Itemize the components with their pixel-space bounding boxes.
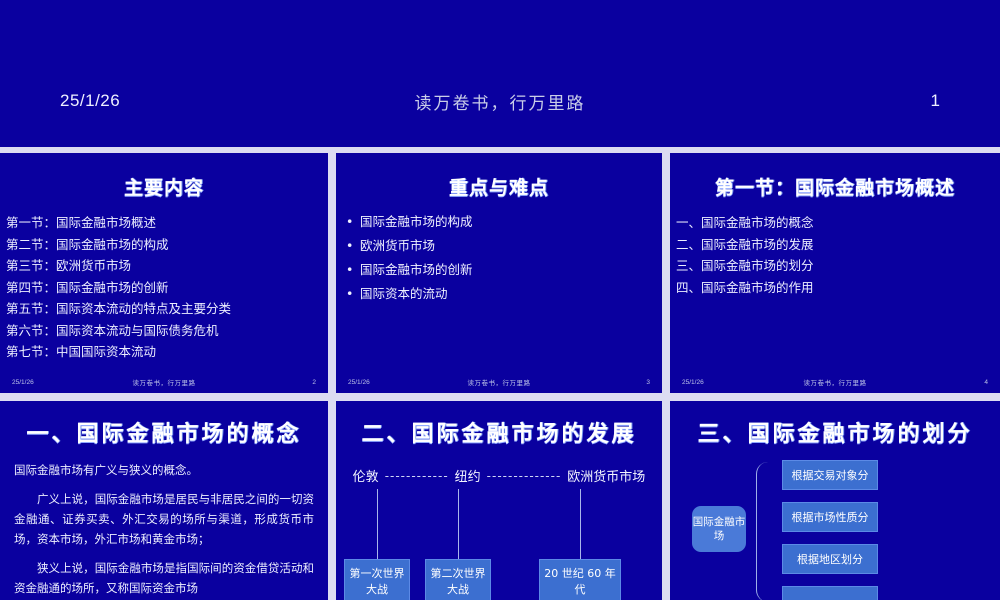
slide-footer: 25/1/26 读万卷书，行万里路 4 [670, 376, 1000, 388]
timeline-dash: -------------- [487, 469, 562, 483]
slide-content-list: 第一节：国际金融市场概述 第二节：国际金融市场的构成 第三节：欧洲货币市场 第四… [0, 212, 328, 363]
tree-brace-connector [756, 462, 770, 600]
slide-cell-3[interactable]: 重点与难点 •国际金融市场的构成 •欧洲货币市场 •国际金融市场的创新 •国际资… [332, 153, 666, 397]
slide-cell-2[interactable]: 主要内容 第一节：国际金融市场概述 第二节：国际金融市场的构成 第三节：欧洲货币… [0, 153, 332, 397]
slide-content-bullets: •国际金融市场的构成 •欧洲货币市场 •国际金融市场的创新 •国际资本的流动 [336, 210, 662, 306]
bullet-label: 国际金融市场的创新 [360, 262, 473, 277]
slide-thumbnail-3[interactable]: 重点与难点 •国际金融市场的构成 •欧洲货币市场 •国际金融市场的创新 •国际资… [336, 153, 662, 393]
timeline-connector [377, 489, 378, 561]
list-item: 第四节：国际金融市场的创新 [6, 277, 314, 299]
slide-content-list: 一、国际金融市场的概念 二、国际金融市场的发展 三、国际金融市场的划分 四、国际… [670, 212, 1000, 298]
tree-category-item: 根据地区划分 [782, 544, 878, 574]
banner-page-number: 1 [931, 91, 940, 111]
timeline-box: 第一次世界大战 [344, 559, 410, 600]
paragraph: 国际金融市场有广义与狭义的概念。 [14, 460, 314, 480]
tree-category-item: 根据交易对象分 [782, 460, 878, 490]
bullet-item: •国际资本的流动 [346, 282, 648, 306]
footer-date: 25/1/26 [12, 379, 34, 386]
bullet-label: 国际资本的流动 [360, 286, 448, 301]
top-banner: 25/1/26 读万卷书，行万里路 1 [0, 0, 1000, 147]
timeline-box: 第二次世界大战 [425, 559, 491, 600]
paragraph: 广义上说，国际金融市场是居民与非居民之间的一切资金融通、证券买卖、外汇交易的场所… [14, 489, 314, 549]
timeline-stage: 第一次世界大战 第二次世界大战 20 世纪 60 年代 [336, 489, 662, 600]
slide-footer: 25/1/26 读万卷书，行万里路 3 [336, 376, 662, 388]
list-item: 第六节：国际资本流动与国际债务危机 [6, 320, 314, 342]
timeline-box: 20 世纪 60 年代 [539, 559, 621, 600]
banner-center-text: 读万卷书，行万里路 [0, 89, 1000, 114]
footer-center-text: 读万卷书，行万里路 [0, 377, 328, 387]
timeline-node-label: 伦敦 [353, 466, 379, 485]
bullet-dot-icon: • [346, 282, 360, 306]
slide-thumbnail-7[interactable]: 三、国际金融市场的划分 国际金融市场 根据交易对象分 根据市场性质分 根据地区划… [670, 401, 1000, 600]
tree-category-item [782, 586, 878, 600]
slide-thumbnail-4[interactable]: 第一节：国际金融市场概述 一、国际金融市场的概念 二、国际金融市场的发展 三、国… [670, 153, 1000, 393]
footer-page-number: 4 [984, 379, 988, 386]
slide-cell-7[interactable]: 三、国际金融市场的划分 国际金融市场 根据交易对象分 根据市场性质分 根据地区划… [666, 397, 1000, 600]
list-item: 三、国际金融市场的划分 [676, 255, 986, 277]
list-item: 第五节：国际资本流动的特点及主要分类 [6, 298, 314, 320]
footer-center-text: 读万卷书，行万里路 [670, 377, 1000, 387]
slide-thumbnail-5[interactable]: 一、国际金融市场的概念 国际金融市场有广义与狭义的概念。 广义上说，国际金融市场… [0, 401, 328, 600]
bullet-dot-icon: • [346, 210, 360, 234]
slide-title: 一、国际金融市场的概念 [0, 416, 328, 448]
paragraph: 狭义上说，国际金融市场是指国际间的资金借贷活动和资金融通的场所，又称国际资金市场 [14, 558, 314, 598]
list-item: 二、国际金融市场的发展 [676, 234, 986, 256]
tree-root-node: 国际金融市场 [692, 506, 746, 552]
slide-thumbnail-2[interactable]: 主要内容 第一节：国际金融市场概述 第二节：国际金融市场的构成 第三节：欧洲货币… [0, 153, 328, 393]
slide-cell-5[interactable]: 一、国际金融市场的概念 国际金融市场有广义与狭义的概念。 广义上说，国际金融市场… [0, 397, 332, 600]
banner-row: 25/1/26 读万卷书，行万里路 1 [0, 84, 1000, 118]
tree-category-item: 根据市场性质分 [782, 502, 878, 532]
list-item: 第一节：国际金融市场概述 [6, 212, 314, 234]
timeline-node-label: 欧洲货币市场 [567, 466, 645, 485]
list-item: 第七节：中国国际资本流动 [6, 341, 314, 363]
bullet-dot-icon: • [346, 234, 360, 258]
footer-date: 25/1/26 [348, 379, 370, 386]
list-item: 第三节：欧洲货币市场 [6, 255, 314, 277]
classification-tree: 国际金融市场 根据交易对象分 根据市场性质分 根据地区划分 [670, 454, 1000, 600]
footer-center-text: 读万卷书，行万里路 [336, 377, 662, 387]
bullet-item: •欧洲货币市场 [346, 234, 648, 258]
bullet-item: •国际金融市场的构成 [346, 210, 648, 234]
slide-cell-6[interactable]: 二、国际金融市场的发展 伦敦 ------------ 纽约 ---------… [332, 397, 666, 600]
footer-date: 25/1/26 [682, 379, 704, 386]
bullet-item: •国际金融市场的创新 [346, 258, 648, 282]
slide-title: 第一节：国际金融市场概述 [670, 173, 1000, 200]
slide-footer: 25/1/26 读万卷书，行万里路 2 [0, 376, 328, 388]
slide-title: 主要内容 [0, 173, 328, 200]
slide-grid-page: 25/1/26 读万卷书，行万里路 1 主要内容 第一节：国际金融市场概述 第二… [0, 0, 1000, 600]
list-item: 四、国际金融市场的作用 [676, 277, 986, 299]
timeline-connector [458, 489, 459, 561]
bullet-dot-icon: • [346, 258, 360, 282]
slide-title: 重点与难点 [336, 173, 662, 200]
slide-content-paragraphs: 国际金融市场有广义与狭义的概念。 广义上说，国际金融市场是居民与非居民之间的一切… [0, 460, 328, 598]
thumbnail-grid: 主要内容 第一节：国际金融市场概述 第二节：国际金融市场的构成 第三节：欧洲货币… [0, 153, 1000, 600]
timeline-dash: ------------ [385, 469, 449, 483]
list-item: 第二节：国际金融市场的构成 [6, 234, 314, 256]
bullet-label: 欧洲货币市场 [360, 238, 435, 253]
footer-page-number: 2 [312, 379, 316, 386]
slide-cell-4[interactable]: 第一节：国际金融市场概述 一、国际金融市场的概念 二、国际金融市场的发展 三、国… [666, 153, 1000, 397]
slide-title: 二、国际金融市场的发展 [336, 416, 662, 448]
list-item: 一、国际金融市场的概念 [676, 212, 986, 234]
timeline-header: 伦敦 ------------ 纽约 -------------- 欧洲货币市场 [336, 466, 662, 485]
timeline-node-label: 纽约 [455, 466, 481, 485]
slide-title: 三、国际金融市场的划分 [670, 416, 1000, 448]
timeline-connector [580, 489, 581, 561]
slide-thumbnail-6[interactable]: 二、国际金融市场的发展 伦敦 ------------ 纽约 ---------… [336, 401, 662, 600]
bullet-label: 国际金融市场的构成 [360, 214, 473, 229]
footer-page-number: 3 [646, 379, 650, 386]
